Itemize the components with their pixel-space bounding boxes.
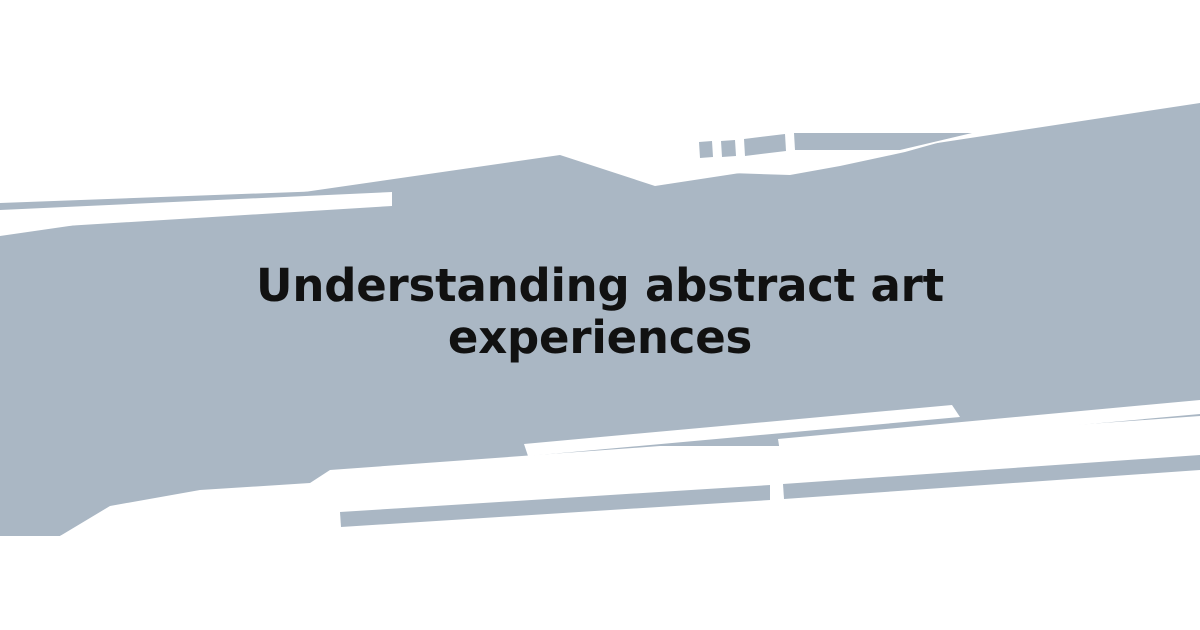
top-dash-mark-1: [699, 141, 713, 158]
banner-root: Understanding abstract art experiences: [0, 0, 1200, 630]
decorative-background-art: [0, 0, 1200, 630]
top-dash-mark-2: [721, 140, 736, 157]
